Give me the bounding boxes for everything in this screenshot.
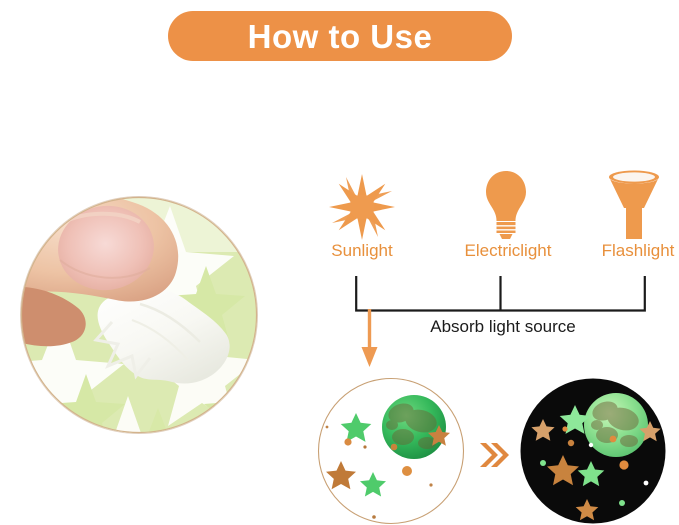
flashlight-icon bbox=[574, 168, 679, 240]
light-source-sunlight: Sunlight bbox=[302, 168, 422, 262]
peeling-sticker-illustration bbox=[20, 196, 258, 434]
light-source-label-flashlight: Flashlight bbox=[574, 240, 679, 262]
light-source-label-sunlight: Sunlight bbox=[302, 240, 422, 262]
light-source-label-electriclight: Electriclight bbox=[446, 240, 566, 262]
lightbulb-icon bbox=[446, 168, 566, 240]
bracket-connector bbox=[355, 276, 646, 313]
page-title-banner: How to Use bbox=[168, 11, 512, 61]
double-chevron-right-icon bbox=[478, 442, 510, 468]
result-circle-daylight bbox=[317, 377, 465, 525]
product-photo-circle bbox=[20, 196, 258, 434]
sun-icon bbox=[302, 168, 422, 240]
absorb-light-source-caption: Absorb light source bbox=[403, 316, 603, 338]
page-title: How to Use bbox=[248, 20, 433, 53]
light-source-electriclight: Electriclight bbox=[446, 168, 566, 262]
how-to-use-infographic: How to Use bbox=[0, 0, 679, 525]
result-circle-darkness bbox=[519, 377, 667, 525]
down-arrow-icon bbox=[358, 309, 382, 369]
light-source-flashlight: Flashlight bbox=[574, 168, 679, 262]
